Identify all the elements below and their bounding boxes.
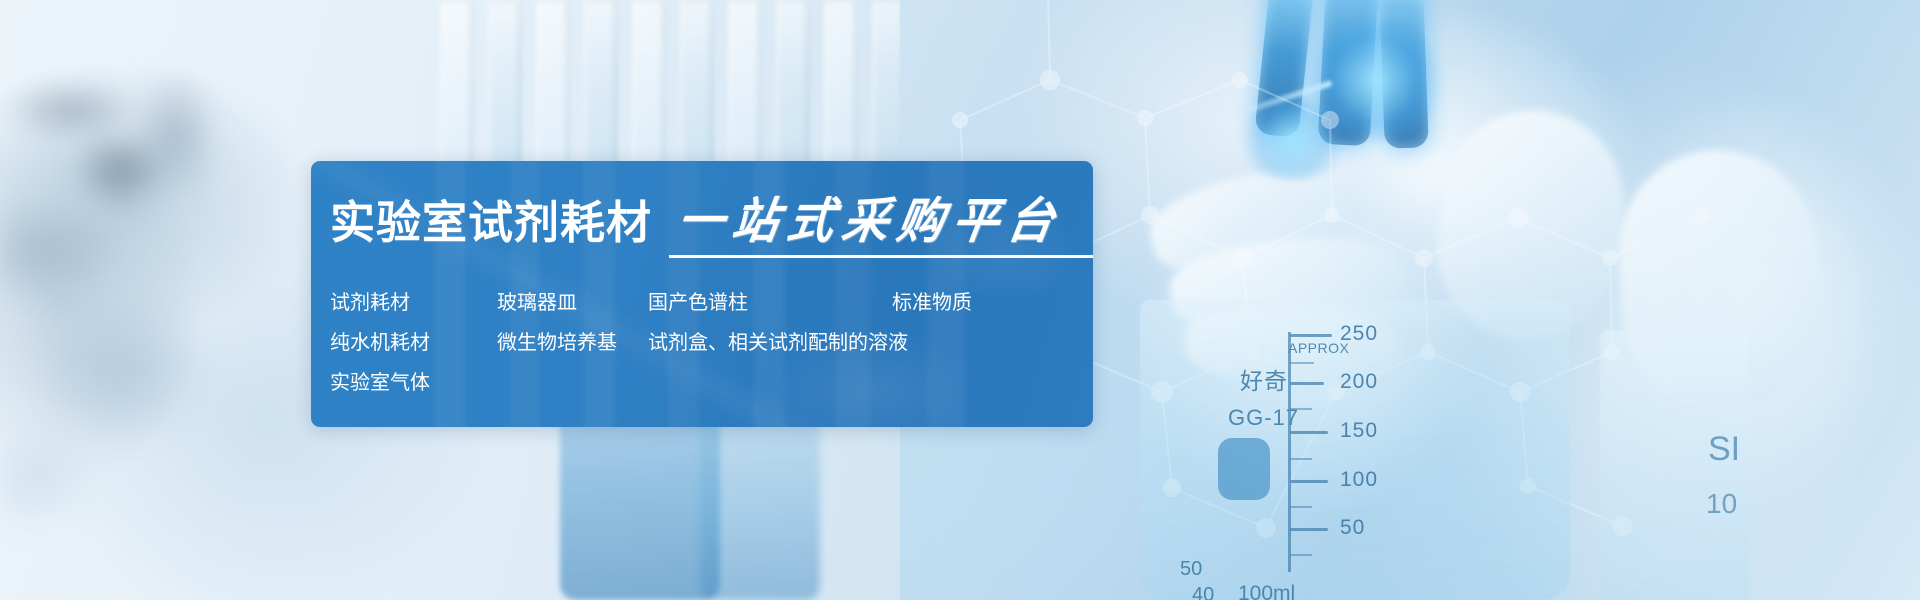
category-item-lab-gas[interactable]: 实验室气体 [330, 373, 497, 393]
category-item-glassware[interactable]: 玻璃器皿 [497, 293, 648, 313]
category-row: 实验室气体 [330, 363, 1093, 403]
category-item-domestic-column[interactable]: 国产色谱柱 [648, 293, 892, 313]
headline-script-text: 一站式采购平台 [674, 196, 1067, 245]
category-row: 纯水机耗材 微生物培养基 试剂盒、相关试剂配制的溶液 [330, 323, 1093, 363]
category-item-water-purifier-parts[interactable]: 纯水机耗材 [330, 333, 497, 353]
promo-card: 实验室试剂耗材 一站式采购平台 试剂耗材 玻璃器皿 国产色谱柱 标准物质 纯水机… [311, 161, 1093, 427]
category-item-reagent-consumables[interactable]: 试剂耗材 [330, 293, 497, 313]
headline-underline [669, 255, 1093, 258]
category-row: 试剂耗材 玻璃器皿 国产色谱柱 标准物质 [330, 283, 1093, 323]
category-item-reagent-kits[interactable]: 试剂盒、相关试剂配制的溶液 [648, 333, 908, 353]
category-item-standard-substance[interactable]: 标准物质 [892, 293, 972, 313]
headline: 实验室试剂耗材 一站式采购平台 [330, 199, 1093, 245]
headline-bold-text: 实验室试剂耗材 [330, 200, 652, 245]
promo-banner: 250 200 150 100 50 APPROX GG-17 好奇 100ml… [0, 0, 1920, 600]
headline-script-wrap: 一站式采购平台 [674, 199, 1059, 245]
category-item-microbial-media[interactable]: 微生物培养基 [497, 333, 648, 353]
category-list: 试剂耗材 玻璃器皿 国产色谱柱 标准物质 纯水机耗材 微生物培养基 试剂盒、相关… [330, 283, 1093, 403]
